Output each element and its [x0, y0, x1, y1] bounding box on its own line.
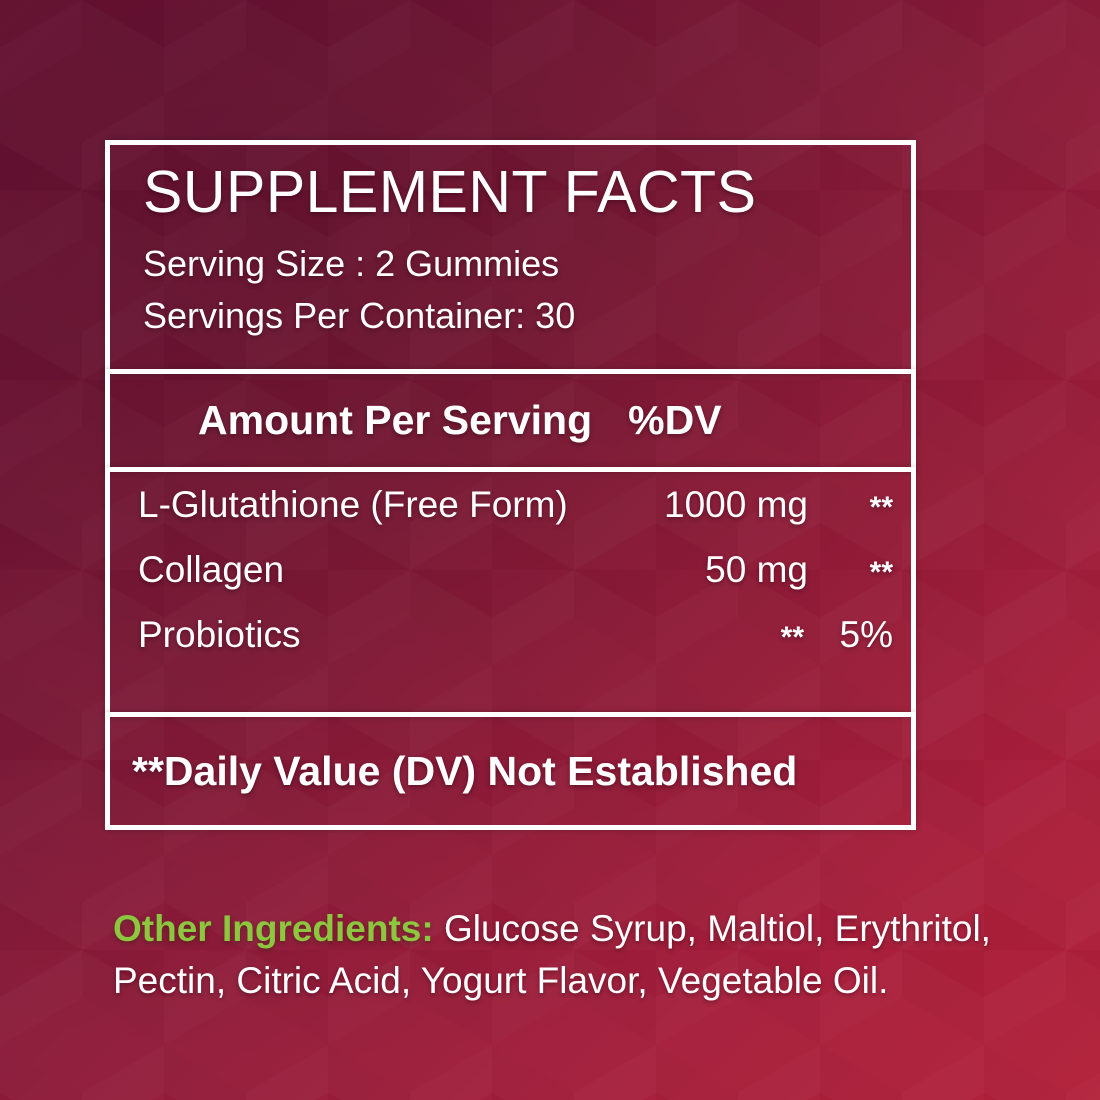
nutrient-name: Collagen: [138, 549, 643, 591]
nutrient-name: Probiotics: [138, 614, 643, 656]
nutrient-row: L-Glutathione (Free Form) 1000 mg **: [110, 484, 911, 549]
other-ingredients-label: Other Ingredients:: [113, 908, 434, 949]
facts-panel: SUPPLEMENT FACTS Serving Size : 2 Gummie…: [105, 140, 916, 840]
nutrient-daily-value: **: [808, 491, 899, 525]
daily-value-footnote: **Daily Value (DV) Not Established: [132, 748, 797, 795]
serving-size-line: Serving Size : 2 Gummies: [143, 238, 911, 291]
nutrient-amount: 1000 mg: [643, 484, 808, 526]
servings-per-container-line: Servings Per Container: 30: [143, 290, 911, 343]
supplement-facts-label: SUPPLEMENT FACTS Serving Size : 2 Gummie…: [0, 0, 1100, 1100]
nutrient-row: Collagen 50 mg **: [110, 549, 911, 614]
nutrients-box: L-Glutathione (Free Form) 1000 mg ** Col…: [105, 467, 916, 717]
nutrient-amount: **: [643, 621, 808, 655]
amount-per-serving-header: Amount Per Serving: [198, 397, 592, 444]
footnote-box: **Daily Value (DV) Not Established: [105, 712, 916, 830]
amount-header-box: Amount Per Serving %DV: [105, 369, 916, 472]
nutrient-amount: 50 mg: [643, 549, 808, 591]
nutrient-row: Probiotics ** 5%: [110, 614, 911, 679]
nutrient-daily-value: **: [808, 556, 899, 590]
nutrient-name: L-Glutathione (Free Form): [138, 484, 643, 526]
panel-title: SUPPLEMENT FACTS: [143, 161, 911, 224]
percent-dv-header: %DV: [628, 397, 721, 444]
facts-heading-box: SUPPLEMENT FACTS Serving Size : 2 Gummie…: [105, 140, 916, 374]
nutrient-daily-value: 5%: [808, 614, 899, 656]
other-ingredients-block: Other Ingredients: Glucose Syrup, Maltio…: [113, 903, 993, 1007]
